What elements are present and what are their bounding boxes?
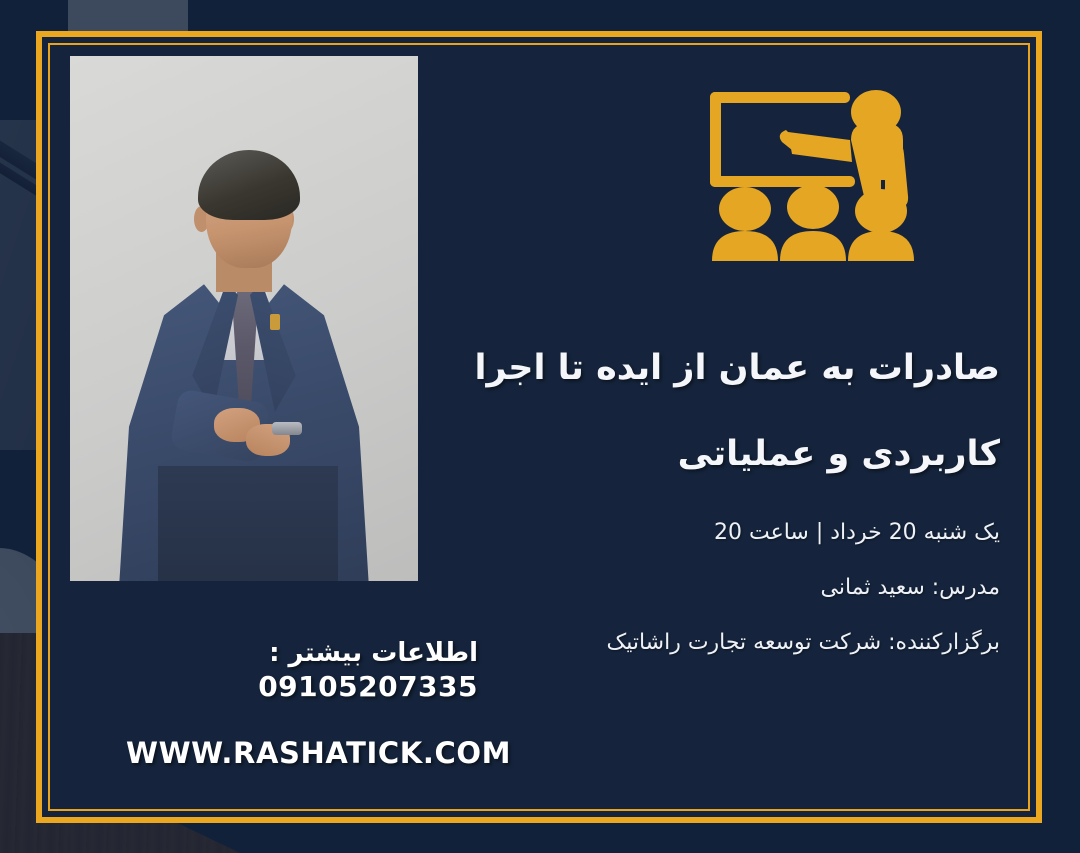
page-title: صادرات به عمان از ایده تا اجرا کاربردی و… xyxy=(400,325,1000,497)
event-datetime: یک شنبه 20 خرداد | ساعت 20 xyxy=(380,505,1000,560)
more-info-label: اطلاعات بیشتر : xyxy=(128,636,478,670)
speaker-portrait xyxy=(70,56,418,581)
portrait-trousers xyxy=(158,466,338,581)
contact-block: اطلاعات بیشتر : 09105207335 xyxy=(128,636,478,704)
headline-line-2: کاربردی و عملیاتی xyxy=(400,411,1000,497)
contact-phone[interactable]: 09105207335 xyxy=(128,670,478,704)
portrait-wristwatch xyxy=(272,422,302,435)
headline-line-1: صادرات به عمان از ایده تا اجرا xyxy=(474,348,1000,388)
webinar-poster: صادرات به عمان از ایده تا اجرا کاربردی و… xyxy=(0,0,1080,853)
classroom-teacher-icon xyxy=(700,78,940,278)
portrait-lapel-pin xyxy=(270,314,280,330)
event-instructor: مدرس: سعید ثمانی xyxy=(380,560,1000,615)
website-url[interactable]: WWW.RASHATICK.COM xyxy=(126,736,511,770)
